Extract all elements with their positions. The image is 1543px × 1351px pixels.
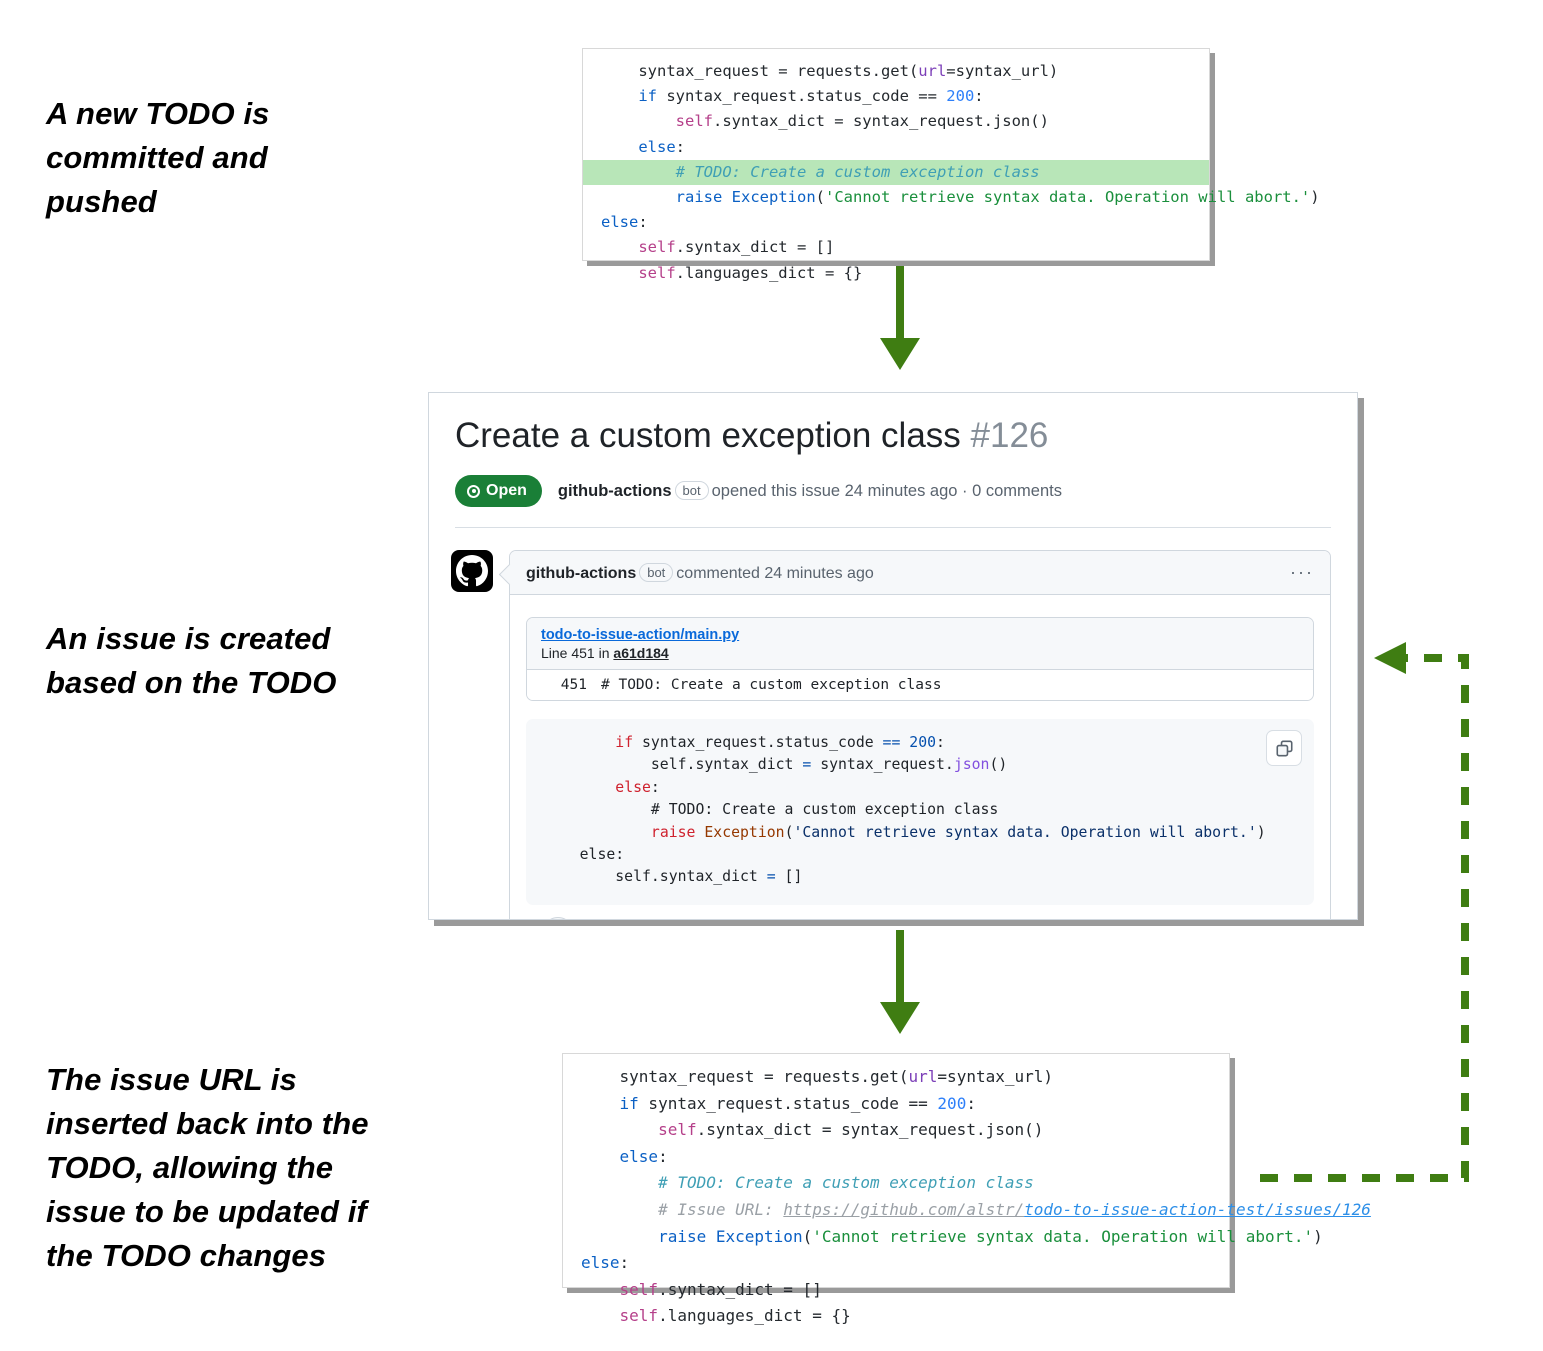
code-line: if syntax_request.status_code == 200: bbox=[583, 84, 1209, 109]
code-line: self.syntax_dict = [] bbox=[544, 866, 1296, 888]
code-line: self.syntax_dict = [] bbox=[563, 1277, 1229, 1304]
snippet-header: todo-to-issue-action/main.py Line 451 in… bbox=[527, 618, 1313, 669]
arrow-down-bottom bbox=[860, 930, 940, 1040]
kebab-menu-icon[interactable]: ··· bbox=[1290, 562, 1314, 583]
issue-comment-row: github-actionsbotcommented 24 minutes ag… bbox=[429, 528, 1357, 920]
comment-author-line: github-actionsbotcommented 24 minutes ag… bbox=[526, 563, 874, 583]
code-line: raise Exception('Cannot retrieve syntax … bbox=[563, 1224, 1229, 1251]
issue-title-text: Create a custom exception class bbox=[455, 416, 961, 455]
code-line: self.syntax_dict = syntax_request.json() bbox=[583, 109, 1209, 134]
page-title: Create a custom exception class #126 bbox=[455, 415, 1331, 457]
code-line: # TODO: Create a custom exception class bbox=[563, 1170, 1229, 1197]
code-line: # TODO: Create a custom exception class bbox=[544, 799, 1296, 821]
code-line: self.languages_dict = {} bbox=[563, 1303, 1229, 1330]
github-octocat-icon bbox=[456, 555, 488, 587]
smiley-icon[interactable] bbox=[542, 917, 574, 920]
snippet-file-link[interactable]: todo-to-issue-action/main.py bbox=[541, 627, 1299, 643]
code-line: self.languages_dict = {} bbox=[583, 261, 1209, 286]
code-line: else: bbox=[583, 135, 1209, 160]
reaction-row bbox=[526, 905, 1314, 920]
code-line: else: bbox=[583, 210, 1209, 235]
code-line-issue-url: # Issue URL: https://github.com/alstr/to… bbox=[563, 1197, 1229, 1224]
comment-box: github-actionsbotcommented 24 minutes ag… bbox=[509, 550, 1331, 920]
snippet-commit-sha[interactable]: a61d184 bbox=[613, 645, 668, 661]
status-badge-label: Open bbox=[486, 482, 527, 500]
issue-header: Create a custom exception class #126 Ope… bbox=[429, 393, 1357, 528]
issue-number: #126 bbox=[971, 416, 1049, 455]
snippet-line-number: 451 bbox=[527, 677, 601, 693]
code-line: self.syntax_dict = syntax_request.json() bbox=[563, 1117, 1229, 1144]
copy-glyph-icon bbox=[1276, 740, 1293, 757]
bot-badge: bot bbox=[639, 563, 673, 582]
caption-step-3: The issue URL is inserted back into the … bbox=[46, 1058, 406, 1278]
code-line: self.syntax_dict = [] bbox=[583, 235, 1209, 260]
issue-author[interactable]: github-actions bbox=[558, 482, 672, 500]
permalink-snippet: todo-to-issue-action/main.py Line 451 in… bbox=[526, 617, 1314, 701]
code-line: else: bbox=[544, 844, 1296, 866]
code-line: else: bbox=[544, 777, 1296, 799]
code-screenshot-before: syntax_request = requests.get(url=syntax… bbox=[582, 48, 1210, 261]
comment-header: github-actionsbotcommented 24 minutes ag… bbox=[510, 551, 1330, 595]
code-line: self.syntax_dict = syntax_request.json() bbox=[544, 754, 1296, 776]
code-screenshot-after: syntax_request = requests.get(url=syntax… bbox=[562, 1053, 1230, 1288]
avatar[interactable] bbox=[451, 550, 493, 592]
issue-meta-text: github-actionsbotopened this issue 24 mi… bbox=[558, 481, 1062, 501]
copy-icon[interactable] bbox=[1266, 730, 1302, 766]
snippet-code-row: 451 # TODO: Create a custom exception cl… bbox=[527, 669, 1313, 700]
code-line: raise Exception('Cannot retrieve syntax … bbox=[544, 822, 1296, 844]
code-line: syntax_request = requests.get(url=syntax… bbox=[563, 1064, 1229, 1091]
fenced-code-block: if syntax_request.status_code == 200: se… bbox=[526, 719, 1314, 905]
issue-meta-suffix: opened this issue 24 minutes ago · 0 com… bbox=[712, 482, 1062, 500]
bot-badge: bot bbox=[675, 481, 709, 500]
snippet-line-ref: Line 451 in a61d184 bbox=[541, 645, 1299, 661]
diagram-canvas: A new TODO is committed and pushed An is… bbox=[0, 0, 1543, 1351]
code-line: else: bbox=[563, 1250, 1229, 1277]
code-line: if syntax_request.status_code == 200: bbox=[544, 732, 1296, 754]
comment-author[interactable]: github-actions bbox=[526, 565, 636, 582]
code-line: raise Exception('Cannot retrieve syntax … bbox=[583, 185, 1209, 210]
code-line: if syntax_request.status_code == 200: bbox=[563, 1091, 1229, 1118]
caption-step-1: A new TODO is committed and pushed bbox=[46, 92, 356, 224]
caption-step-2: An issue is created based on the TODO bbox=[46, 617, 376, 705]
github-issue-card: Create a custom exception class #126 Ope… bbox=[428, 392, 1358, 920]
code-line: syntax_request = requests.get(url=syntax… bbox=[583, 59, 1209, 84]
status-badge[interactable]: Open bbox=[455, 475, 542, 507]
snippet-line-prefix: Line 451 in bbox=[541, 645, 613, 661]
code-line: else: bbox=[563, 1144, 1229, 1171]
issue-open-circle-icon bbox=[467, 485, 480, 498]
snippet-source-line: # TODO: Create a custom exception class bbox=[601, 677, 941, 693]
comment-body: todo-to-issue-action/main.py Line 451 in… bbox=[510, 595, 1330, 920]
issue-meta-row: Open github-actionsbotopened this issue … bbox=[455, 475, 1331, 507]
code-line-todo-highlighted: # TODO: Create a custom exception class bbox=[583, 160, 1209, 185]
comment-meta: commented 24 minutes ago bbox=[676, 565, 873, 582]
